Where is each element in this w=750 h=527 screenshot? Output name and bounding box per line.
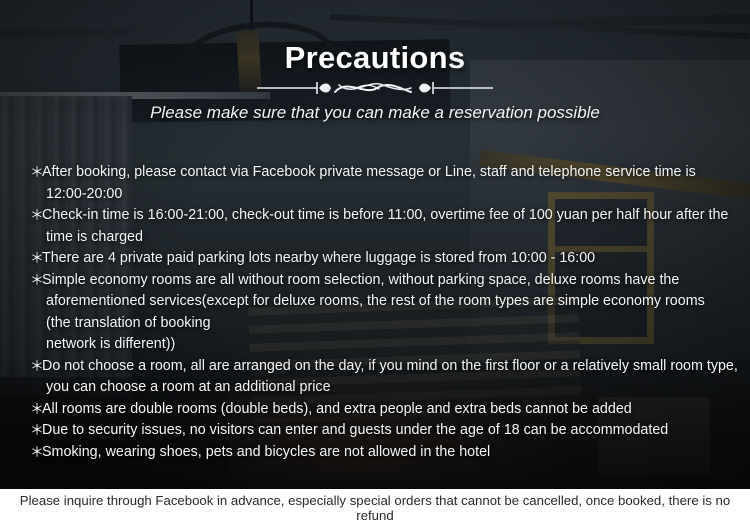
list-item: ＊ Due to security issues, no visitors ca… bbox=[30, 420, 720, 442]
note-continuation: aforementioned services(except for delux… bbox=[30, 291, 720, 313]
note-first-line: ＊ Due to security issues, no visitors ca… bbox=[30, 420, 720, 442]
page-subtitle: Please make sure that you can make a res… bbox=[0, 103, 750, 123]
note-text: All rooms are double rooms (double beds)… bbox=[42, 399, 632, 421]
asterisk-bullet-icon: ＊ bbox=[30, 356, 42, 378]
footer-text: Please inquire through Facebook in advan… bbox=[0, 493, 750, 523]
note-text: After booking, please contact via Facebo… bbox=[42, 162, 696, 184]
list-item: ＊ All rooms are double rooms (double bed… bbox=[30, 399, 720, 421]
asterisk-bullet-icon: ＊ bbox=[30, 399, 42, 421]
note-continuation: network is different)) bbox=[30, 334, 720, 356]
note-text: Do not choose a room, all are arranged o… bbox=[42, 356, 738, 378]
asterisk-bullet-icon: ＊ bbox=[30, 248, 42, 270]
list-item: ＊ There are 4 private paid parking lots … bbox=[30, 248, 720, 270]
asterisk-bullet-icon: ＊ bbox=[30, 420, 42, 442]
poster-content: Precautions Please make sure that you ca… bbox=[0, 0, 750, 527]
note-first-line: ＊ All rooms are double rooms (double bed… bbox=[30, 399, 720, 421]
page-title: Precautions bbox=[0, 40, 750, 76]
note-continuation: 12:00-20:00 bbox=[30, 184, 720, 206]
note-first-line: ＊ Smoking, wearing shoes, pets and bicyc… bbox=[30, 442, 720, 464]
note-text: Smoking, wearing shoes, pets and bicycle… bbox=[42, 442, 490, 464]
note-first-line: ＊ Do not choose a room, all are arranged… bbox=[30, 356, 720, 378]
flourish-divider-icon bbox=[255, 76, 495, 100]
asterisk-bullet-icon: ＊ bbox=[30, 442, 42, 464]
asterisk-bullet-icon: ＊ bbox=[30, 162, 42, 184]
note-text: Due to security issues, no visitors can … bbox=[42, 420, 668, 442]
list-item: ＊ Simple economy rooms are all without r… bbox=[30, 270, 720, 356]
notes-list: ＊ After booking, please contact via Face… bbox=[30, 162, 720, 463]
note-continuation: time is charged bbox=[30, 227, 720, 249]
note-text: Simple economy rooms are all without roo… bbox=[42, 270, 679, 292]
note-first-line: ＊ After booking, please contact via Face… bbox=[30, 162, 720, 184]
list-item: ＊ Check-in time is 16:00-21:00, check-ou… bbox=[30, 205, 720, 248]
asterisk-bullet-icon: ＊ bbox=[30, 270, 42, 292]
note-first-line: ＊ Simple economy rooms are all without r… bbox=[30, 270, 720, 292]
note-continuation: you can choose a room at an additional p… bbox=[30, 377, 720, 399]
asterisk-bullet-icon: ＊ bbox=[30, 205, 42, 227]
note-continuation: (the translation of booking bbox=[30, 313, 720, 335]
list-item: ＊ Smoking, wearing shoes, pets and bicyc… bbox=[30, 442, 720, 464]
note-text: There are 4 private paid parking lots ne… bbox=[42, 248, 595, 270]
precautions-poster: Precautions Please make sure that you ca… bbox=[0, 0, 750, 527]
list-item: ＊ After booking, please contact via Face… bbox=[30, 162, 720, 205]
note-text: Check-in time is 16:00-21:00, check-out … bbox=[42, 205, 728, 227]
note-first-line: ＊ There are 4 private paid parking lots … bbox=[30, 248, 720, 270]
note-first-line: ＊ Check-in time is 16:00-21:00, check-ou… bbox=[30, 205, 720, 227]
list-item: ＊ Do not choose a room, all are arranged… bbox=[30, 356, 720, 399]
footer-bar: Please inquire through Facebook in advan… bbox=[0, 489, 750, 527]
